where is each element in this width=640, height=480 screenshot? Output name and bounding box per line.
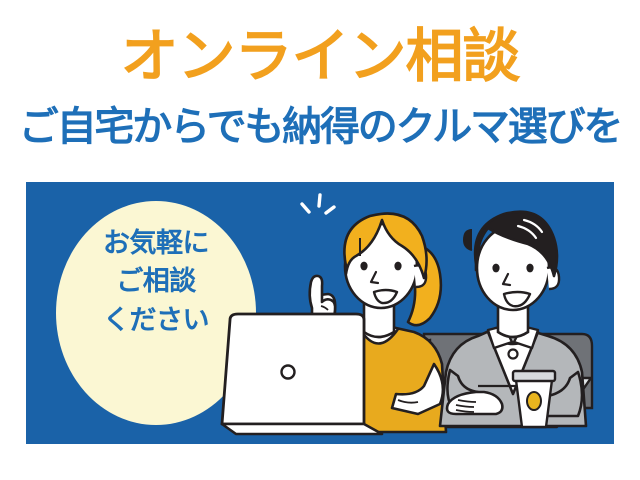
man-shirt-button: [509, 350, 518, 359]
illustration-canvas: [26, 182, 614, 444]
page-subtitle: ご自宅からでも納得のクルマ選びを: [0, 104, 640, 150]
banner-page: オンライン相談 ご自宅からでも納得のクルマ選びを: [0, 0, 640, 480]
woman-eye-left: [360, 262, 367, 271]
woman-eye-right: [394, 262, 401, 271]
laptop: [222, 314, 382, 434]
sparkle-icon: [302, 195, 334, 213]
laptop-base: [222, 424, 382, 434]
man-eye-left: [492, 264, 499, 273]
man-eye-right: [526, 264, 533, 273]
laptop-logo-icon: [282, 366, 295, 379]
coffee-cup-logo-icon: [527, 392, 541, 410]
coffee-cup-lid: [513, 371, 555, 381]
man-figure: [440, 212, 586, 426]
promo-banner: お気軽に ご相談 ください: [26, 182, 614, 444]
page-title: オンライン相談: [0, 26, 640, 89]
